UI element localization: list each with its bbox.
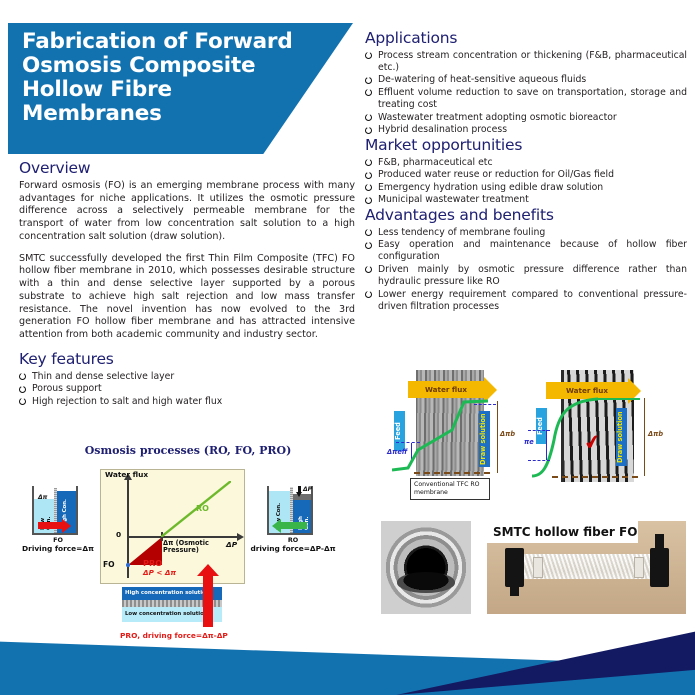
title-line-4: Membranes	[22, 102, 322, 126]
bullet-icon	[365, 114, 372, 121]
list-item-label: Emergency hydration using edible draw so…	[378, 182, 603, 193]
list-item-label: Wastewater treatment adopting osmotic bi…	[378, 112, 617, 123]
fiber-lumen-shadow	[397, 572, 455, 592]
x-tick-label: Δπ (Osmotic Pressure)	[163, 540, 213, 555]
pi-eff-label: πe	[524, 438, 534, 446]
title-line-2: Osmosis Composite	[22, 54, 322, 78]
module-title-label: SMTC hollow fiber FO	[487, 521, 638, 543]
list-item: Less tendency of membrane fouling	[365, 227, 687, 239]
water-flow-arrow	[281, 522, 307, 529]
list-item: Effluent volume reduction to save on tra…	[365, 87, 687, 111]
bullet-icon	[365, 184, 372, 191]
list-item-label: Driven mainly by osmotic pressure differ…	[378, 264, 687, 287]
water-flow-arrow	[38, 522, 62, 529]
bullet-icon	[19, 386, 26, 393]
bullet-icon	[365, 52, 372, 59]
list-item-label: Less tendency of membrane fouling	[378, 227, 545, 238]
bullet-icon	[365, 172, 372, 179]
module-port-right	[655, 534, 664, 548]
bullet-icon	[365, 242, 372, 249]
y-tick-zero: 0	[116, 530, 121, 539]
flux-vs-pressure-plot: Water flux 0 ΔP Δπ (Osmotic Pressure) RO…	[100, 469, 245, 584]
list-item-label: Produced water reuse or reduction for Oi…	[378, 169, 614, 180]
membrane-caption: Conventional TFC RO membrane	[410, 478, 490, 500]
process-label: FO	[32, 536, 84, 544]
fo-caption: Driving force=Δπ	[14, 544, 102, 553]
fo-module-photo: SMTC hollow fiber FO	[487, 521, 686, 614]
bullet-icon	[365, 291, 372, 298]
fo-series-label: FO	[103, 560, 115, 569]
list-item: Thin and dense selective layer	[19, 371, 355, 383]
list-item-label: Easy operation and maintenance because o…	[378, 239, 687, 262]
bullet-icon	[19, 398, 26, 405]
pi-bulk-bar	[497, 401, 498, 473]
pro-condition-label: ΔP < Δπ	[143, 568, 176, 577]
overview-paragraph-1: Forward osmosis (FO) is an emerging memb…	[19, 180, 355, 244]
list-item-label: F&B, pharmaceutical etc	[378, 157, 493, 168]
page-title: Fabrication of Forward Osmosis Composite…	[22, 30, 322, 126]
applications-heading: Applications	[365, 30, 687, 48]
ro-caption: driving force=ΔP-Δπ	[241, 544, 345, 553]
conventional-tfc-membrane-diagram: Water flux Feed Draw solution Δπb Δπeff …	[378, 368, 526, 513]
overview-paragraph-2: SMTC successfully developed the first Th…	[19, 253, 355, 342]
chart-title: Osmosis processes (RO, FO, PRO)	[18, 444, 358, 457]
list-item: Driven mainly by osmotic pressure differ…	[365, 264, 687, 288]
left-column: Overview Forward osmosis (FO) is an emer…	[19, 160, 355, 408]
delta-p-label: ΔP	[303, 486, 312, 493]
pressure-arrow-head-icon	[296, 492, 302, 497]
draw-solution-tag: Draw solution	[616, 408, 627, 466]
bullet-icon	[365, 266, 372, 273]
water-flux-label: Water flux	[408, 385, 484, 394]
pro-diagram: High concentration solution Low concentr…	[122, 587, 222, 627]
bullet-icon	[19, 373, 26, 380]
advantages-list: Less tendency of membrane fouling Easy o…	[365, 227, 687, 313]
high-layer-label: High concentration solution	[125, 590, 210, 596]
advantages-heading: Advantages and benefits	[365, 207, 687, 225]
bullet-icon	[365, 77, 372, 84]
bullet-icon	[365, 159, 372, 166]
title-line-3: Hollow Fibre	[22, 78, 322, 102]
list-item-label: Municipal wastewater treatment	[378, 194, 529, 205]
list-item: Municipal wastewater treatment	[365, 194, 687, 206]
pro-caption: PRO, driving force=Δπ-ΔP	[120, 631, 265, 640]
pi-bulk-label: Δπb	[648, 430, 663, 438]
key-features-list: Thin and dense selective layer Porous su…	[19, 371, 355, 408]
hollow-fiber-cross-section-photo	[381, 521, 471, 614]
fo-beaker-diagram: Δπ Low Con. High Con. FO Driving force=Δ…	[32, 486, 84, 558]
applications-list: Process stream concentration or thickeni…	[365, 50, 687, 137]
draw-plateau-line	[596, 398, 640, 400]
process-label: RO	[267, 536, 319, 544]
list-item: High rejection to salt and high water fl…	[19, 396, 355, 408]
ro-beaker-diagram: ΔP Low Con. High Con. RO driving force=Δ…	[267, 486, 319, 558]
x-axis-label: ΔP	[226, 540, 237, 549]
list-item: Easy operation and maintenance because o…	[365, 239, 687, 263]
list-item: Hybrid desalination process	[365, 124, 687, 136]
list-item: Emergency hydration using edible draw so…	[365, 182, 687, 194]
pi-bulk-label: Δπb	[500, 430, 515, 438]
market-heading: Market opportunities	[365, 137, 687, 155]
feed-dashed-line-bottom	[528, 460, 550, 461]
pi-eff-bar	[546, 430, 547, 460]
x-axis-arrow-icon	[237, 533, 244, 541]
list-item: De-watering of heat-sensitive aqueous fl…	[365, 74, 687, 86]
concentration-profile-curve	[392, 394, 488, 474]
bullet-icon	[365, 127, 372, 134]
water-flux-label: Water flux	[546, 386, 628, 395]
list-item-label: De-watering of heat-sensitive aqueous fl…	[378, 74, 586, 85]
list-item-label: Hybrid desalination process	[378, 124, 507, 135]
low-layer-label: Low concentration solution	[125, 611, 208, 617]
module-port-left	[510, 582, 519, 596]
module-ring-left	[533, 557, 543, 577]
module-end-cap-right	[650, 548, 669, 587]
module-ring-right	[634, 557, 644, 577]
bullet-icon	[365, 229, 372, 236]
fo-point-marker	[126, 563, 130, 567]
bullet-icon	[365, 197, 372, 204]
list-item-label: Porous support	[32, 383, 102, 394]
bullet-icon	[365, 89, 372, 96]
y-axis-label: Water flux	[105, 470, 148, 479]
right-column: Applications Process stream concentratio…	[365, 30, 687, 313]
list-item-label: Process stream concentration or thickeni…	[378, 50, 687, 73]
list-item: Produced water reuse or reduction for Oi…	[365, 169, 687, 181]
list-item: Wastewater treatment adopting osmotic bi…	[365, 112, 687, 124]
list-item-label: Lower energy requirement compared to con…	[378, 289, 687, 312]
module-end-cap-left	[505, 548, 524, 587]
list-item: F&B, pharmaceutical etc	[365, 157, 687, 169]
list-item-label: Effluent volume reduction to save on tra…	[378, 87, 687, 110]
list-item: Process stream concentration or thickeni…	[365, 50, 687, 74]
list-item: Lower energy requirement compared to con…	[365, 289, 687, 313]
list-item: Porous support	[19, 383, 355, 395]
key-features-heading: Key features	[19, 351, 355, 369]
overview-heading: Overview	[19, 160, 355, 178]
poster-root: Fabrication of Forward Osmosis Composite…	[0, 0, 695, 695]
pro-flow-arrow-icon	[203, 575, 213, 627]
list-item-label: High rejection to salt and high water fl…	[32, 396, 222, 407]
smtc-fo-membrane-diagram: Water flux Feed Draw solution πe Δπb ✔	[532, 368, 688, 513]
pi-bulk-bar	[644, 398, 645, 476]
title-line-1: Fabrication of Forward	[22, 30, 322, 54]
list-item-label: Thin and dense selective layer	[32, 371, 174, 382]
ro-series-label: RO	[196, 504, 209, 513]
pro-series-label: PRO	[143, 558, 162, 568]
delta-pi-label: Δπ	[38, 494, 47, 501]
market-list: F&B, pharmaceutical etc Produced water r…	[365, 157, 687, 207]
